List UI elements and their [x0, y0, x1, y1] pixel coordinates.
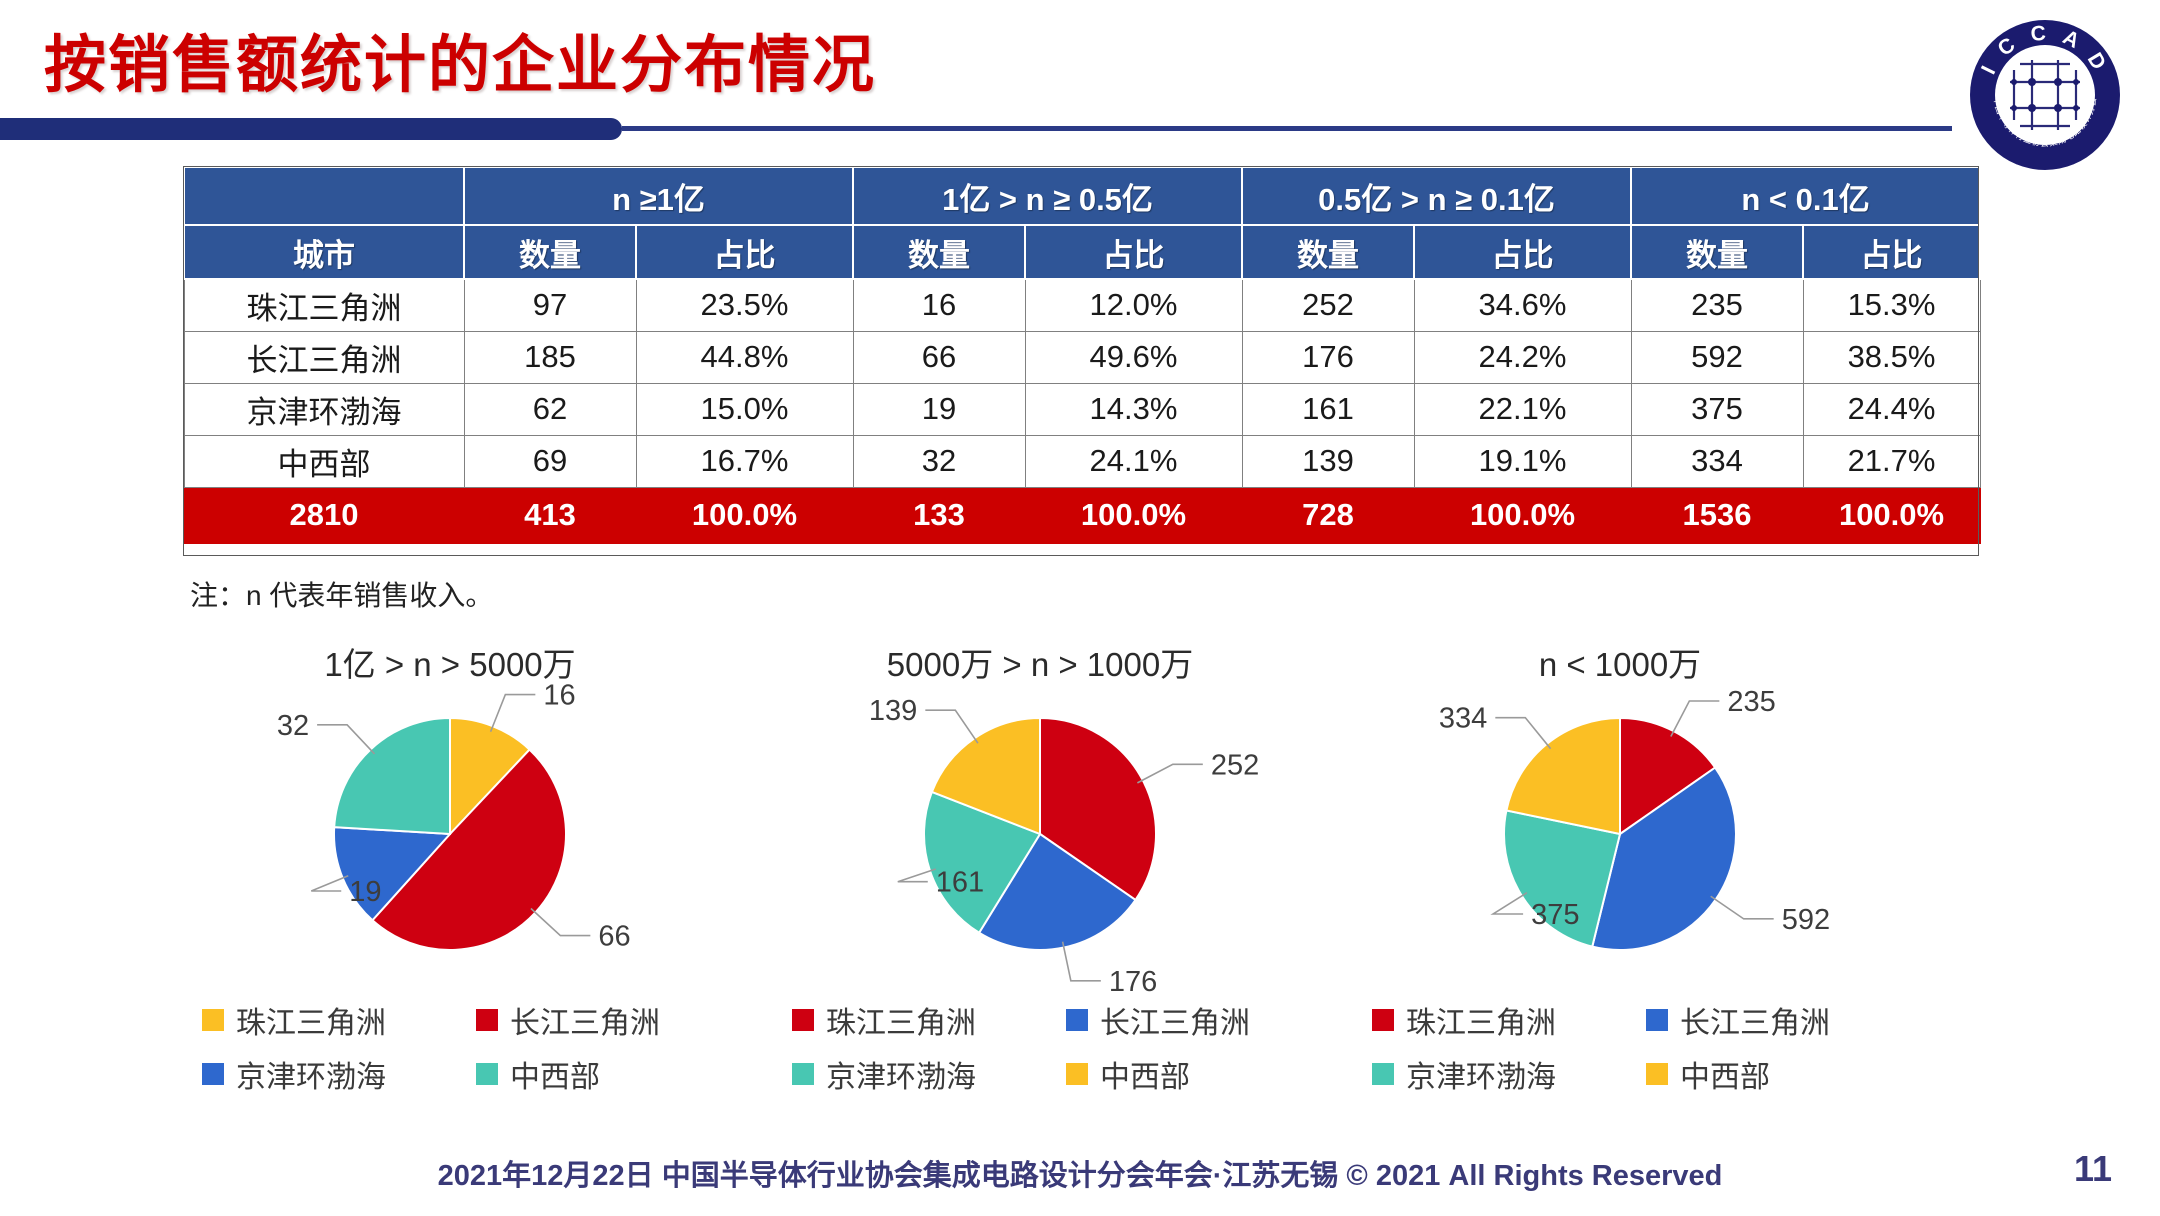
- cell-count: 69: [464, 435, 636, 487]
- sub-header-6: 占比: [1414, 225, 1631, 279]
- cell-share: 22.1%: [1414, 383, 1631, 435]
- cell-count: 97: [464, 279, 636, 331]
- pie-area: 252176161139: [740, 682, 1340, 992]
- pie-svg: 16661932: [150, 682, 750, 992]
- legend-swatch-icon: [1066, 1009, 1088, 1031]
- pie-leader-line: [311, 876, 348, 891]
- pie-data-label: 32: [277, 710, 309, 742]
- pie-data-label: 235: [1727, 686, 1775, 718]
- pie-area: 235592375334: [1320, 682, 1920, 992]
- legend-swatch-icon: [1372, 1063, 1394, 1085]
- legend-item[interactable]: 长江三角洲: [1066, 998, 1340, 1042]
- legend-label: 中西部: [510, 1052, 600, 1096]
- iccad-logo: I C C A D 中国半导体行业协会集成电路设计分会: [1966, 16, 2124, 174]
- legend-label: 京津环渤海: [1406, 1052, 1556, 1096]
- cell-share: 15.0%: [636, 383, 853, 435]
- total-count: 728: [1242, 487, 1414, 543]
- legend-label: 珠江三角洲: [826, 998, 976, 1042]
- pie-slice[interactable]: [334, 718, 450, 834]
- cell-share: 24.4%: [1803, 383, 1980, 435]
- cell-count: 235: [1631, 279, 1803, 331]
- group-header-0: n ≥1亿: [464, 167, 853, 225]
- legend-swatch-icon: [792, 1009, 814, 1031]
- pie-leader-line: [317, 725, 374, 754]
- pie-data-label: 592: [1782, 904, 1830, 936]
- chart-legend: 珠江三角洲长江三角洲京津环渤海中西部: [740, 998, 1340, 1096]
- legend-item[interactable]: 珠江三角洲: [792, 998, 1066, 1042]
- legend-swatch-icon: [1372, 1009, 1394, 1031]
- cell-share: 44.8%: [636, 331, 853, 383]
- cell-share: 24.2%: [1414, 331, 1631, 383]
- pie-data-label: 161: [936, 867, 984, 899]
- legend-item[interactable]: 中西部: [476, 1052, 750, 1096]
- cell-count: 252: [1242, 279, 1414, 331]
- pie-data-label: 16: [543, 682, 575, 712]
- pie-leader-line: [531, 909, 590, 936]
- pie-chart-0: 1亿 > n > 5000万 16661932 珠江三角洲长江三角洲京津环渤海中…: [150, 630, 750, 1160]
- legend-swatch-icon: [1646, 1063, 1668, 1085]
- cell-count: 16: [853, 279, 1025, 331]
- page-number: 11: [2074, 1148, 2112, 1190]
- table-corner-cell: [184, 167, 464, 225]
- legend-item[interactable]: 中西部: [1066, 1052, 1340, 1096]
- cell-share: 38.5%: [1803, 331, 1980, 383]
- cell-count: 62: [464, 383, 636, 435]
- pie-leader-line: [1493, 893, 1527, 914]
- total-share: 100.0%: [1025, 487, 1242, 543]
- cell-share: 15.3%: [1803, 279, 1980, 331]
- table-row: 长江三角洲 185 44.8% 66 49.6% 176 24.2% 592 3…: [184, 331, 1980, 383]
- legend-label: 中西部: [1100, 1052, 1190, 1096]
- pie-leader-line: [925, 710, 978, 743]
- distribution-table: n ≥1亿 1亿 > n ≥ 0.5亿 0.5亿 > n ≥ 0.1亿 n < …: [183, 166, 1981, 544]
- legend-item[interactable]: 长江三角洲: [476, 998, 750, 1042]
- total-count: 133: [853, 487, 1025, 543]
- sub-header-3: 数量: [853, 225, 1025, 279]
- table-note: 注：n 代表年销售收入。: [190, 574, 493, 614]
- legend-label: 珠江三角洲: [1406, 998, 1556, 1042]
- total-count: 413: [464, 487, 636, 543]
- pie-leader-line: [1495, 718, 1550, 749]
- cell-share: 23.5%: [636, 279, 853, 331]
- cell-region: 京津环渤海: [184, 383, 464, 435]
- legend-item[interactable]: 京津环渤海: [1372, 1052, 1646, 1096]
- legend-item[interactable]: 珠江三角洲: [1372, 998, 1646, 1042]
- pie-data-label: 66: [598, 921, 630, 953]
- slide-root: 按销售额统计的企业分布情况: [0, 0, 2160, 1216]
- cell-count: 19: [853, 383, 1025, 435]
- table-sub-header-row: 城市 数量 占比 数量 占比 数量 占比 数量 占比: [184, 225, 1980, 279]
- legend-item[interactable]: 京津环渤海: [202, 1052, 476, 1096]
- pie-data-label: 176: [1109, 966, 1157, 992]
- pie-chart-2: n < 1000万 235592375334 珠江三角洲长江三角洲京津环渤海中西…: [1320, 630, 1920, 1160]
- legend-swatch-icon: [202, 1063, 224, 1085]
- legend-label: 长江三角洲: [1100, 998, 1250, 1042]
- cell-count: 375: [1631, 383, 1803, 435]
- pie-svg: 235592375334: [1320, 682, 1920, 992]
- table-total-row: 2810 413 100.0% 133 100.0% 728 100.0% 15…: [184, 487, 1980, 543]
- pie-data-label: 334: [1439, 703, 1487, 735]
- pie-leader-line: [1137, 764, 1202, 783]
- distribution-table-wrapper: n ≥1亿 1亿 > n ≥ 0.5亿 0.5亿 > n ≥ 0.1亿 n < …: [183, 166, 1979, 544]
- pie-leader-line: [491, 695, 536, 732]
- pie-leader-line: [898, 869, 936, 882]
- iccad-logo-icon: I C C A D 中国半导体行业协会集成电路设计分会: [1966, 16, 2124, 174]
- pie-data-label: 139: [869, 695, 917, 727]
- cell-count: 139: [1242, 435, 1414, 487]
- table-row: 京津环渤海 62 15.0% 19 14.3% 161 22.1% 375 24…: [184, 383, 1980, 435]
- group-header-1: 1亿 > n ≥ 0.5亿: [853, 167, 1242, 225]
- legend-swatch-icon: [202, 1009, 224, 1031]
- chart-legend: 珠江三角洲长江三角洲京津环渤海中西部: [1320, 998, 1920, 1096]
- legend-label: 中西部: [1680, 1052, 1770, 1096]
- legend-label: 长江三角洲: [1680, 998, 1830, 1042]
- page-title: 按销售额统计的企业分布情况: [44, 14, 876, 104]
- title-rule-thick: [0, 118, 622, 140]
- table-row: 中西部 69 16.7% 32 24.1% 139 19.1% 334 21.7…: [184, 435, 1980, 487]
- sub-header-8: 占比: [1803, 225, 1980, 279]
- group-header-3: n < 0.1亿: [1631, 167, 1980, 225]
- legend-label: 京津环渤海: [236, 1052, 386, 1096]
- cell-region: 长江三角洲: [184, 331, 464, 383]
- legend-item[interactable]: 京津环渤海: [792, 1052, 1066, 1096]
- total-share: 100.0%: [1803, 487, 1980, 543]
- legend-swatch-icon: [1066, 1063, 1088, 1085]
- pie-data-label: 252: [1211, 749, 1259, 781]
- cell-count: 66: [853, 331, 1025, 383]
- cell-region: 珠江三角洲: [184, 279, 464, 331]
- legend-swatch-icon: [1646, 1009, 1668, 1031]
- pie-leader-line: [1063, 942, 1101, 981]
- cell-share: 14.3%: [1025, 383, 1242, 435]
- legend-item[interactable]: 中西部: [1646, 1052, 1920, 1096]
- pie-leader-line: [1671, 701, 1719, 736]
- cell-share: 34.6%: [1414, 279, 1631, 331]
- pie-chart-1: 5000万 > n > 1000万 252176161139 珠江三角洲长江三角…: [740, 630, 1340, 1160]
- chart-title: 5000万 > n > 1000万: [740, 638, 1340, 682]
- chart-legend: 珠江三角洲长江三角洲京津环渤海中西部: [150, 998, 750, 1096]
- pie-data-label: 375: [1531, 899, 1579, 931]
- cell-share: 12.0%: [1025, 279, 1242, 331]
- total-grand: 2810: [184, 487, 464, 543]
- sub-header-7: 数量: [1631, 225, 1803, 279]
- cell-share: 49.6%: [1025, 331, 1242, 383]
- cell-count: 32: [853, 435, 1025, 487]
- cell-count: 334: [1631, 435, 1803, 487]
- cell-count: 592: [1631, 331, 1803, 383]
- legend-item[interactable]: 珠江三角洲: [202, 998, 476, 1042]
- sub-header-0: 城市: [184, 225, 464, 279]
- legend-label: 珠江三角洲: [236, 998, 386, 1042]
- chart-title: n < 1000万: [1320, 638, 1920, 682]
- group-header-2: 0.5亿 > n ≥ 0.1亿: [1242, 167, 1631, 225]
- sub-header-2: 占比: [636, 225, 853, 279]
- pie-area: 16661932: [150, 682, 750, 992]
- legend-label: 长江三角洲: [510, 998, 660, 1042]
- cell-count: 161: [1242, 383, 1414, 435]
- table-row: 珠江三角洲 97 23.5% 16 12.0% 252 34.6% 235 15…: [184, 279, 1980, 331]
- pie-charts-section: 1亿 > n > 5000万 16661932 珠江三角洲长江三角洲京津环渤海中…: [0, 630, 2160, 1160]
- legend-swatch-icon: [476, 1009, 498, 1031]
- cell-count: 185: [464, 331, 636, 383]
- cell-count: 176: [1242, 331, 1414, 383]
- cell-share: 19.1%: [1414, 435, 1631, 487]
- footer-text: 2021年12月22日 中国半导体行业协会集成电路设计分会年会·江苏无锡 © 2…: [0, 1152, 2160, 1194]
- sub-header-1: 数量: [464, 225, 636, 279]
- table-group-header-row: n ≥1亿 1亿 > n ≥ 0.5亿 0.5亿 > n ≥ 0.1亿 n < …: [184, 167, 1980, 225]
- legend-swatch-icon: [792, 1063, 814, 1085]
- pie-data-label: 19: [349, 876, 381, 908]
- legend-label: 京津环渤海: [826, 1052, 976, 1096]
- sub-header-4: 占比: [1025, 225, 1242, 279]
- cell-share: 24.1%: [1025, 435, 1242, 487]
- cell-share: 21.7%: [1803, 435, 1980, 487]
- cell-region: 中西部: [184, 435, 464, 487]
- chart-title: 1亿 > n > 5000万: [150, 638, 750, 682]
- total-count: 1536: [1631, 487, 1803, 543]
- pie-svg: 252176161139: [740, 682, 1340, 992]
- sub-header-5: 数量: [1242, 225, 1414, 279]
- total-share: 100.0%: [1414, 487, 1631, 543]
- legend-swatch-icon: [476, 1063, 498, 1085]
- pie-leader-line: [1711, 896, 1774, 919]
- legend-item[interactable]: 长江三角洲: [1646, 998, 1920, 1042]
- title-rule-thin: [622, 126, 1952, 131]
- cell-share: 16.7%: [636, 435, 853, 487]
- total-share: 100.0%: [636, 487, 853, 543]
